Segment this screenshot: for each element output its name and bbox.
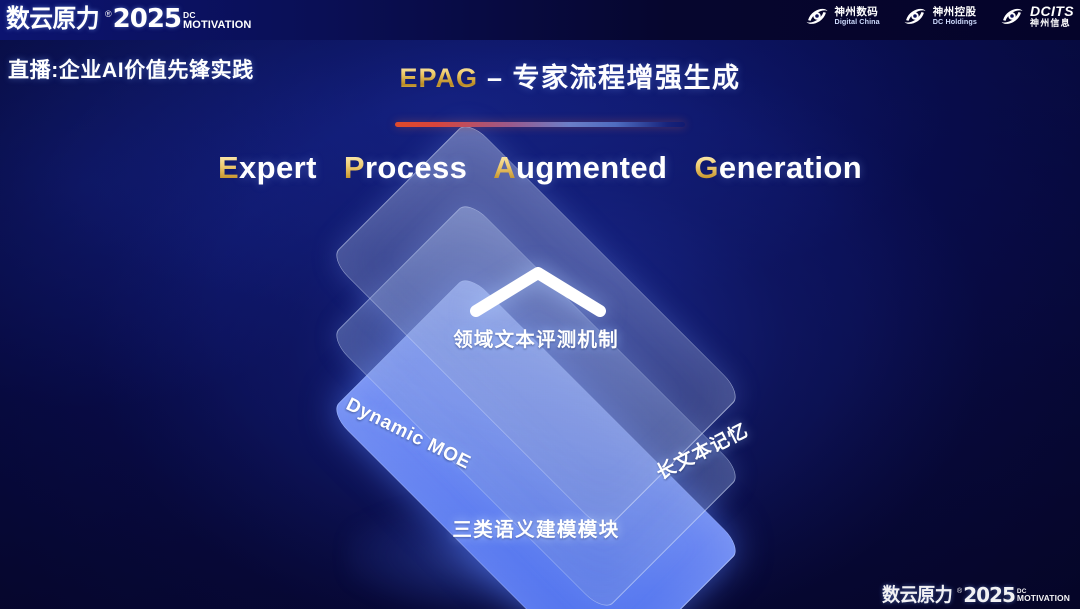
subtitle-word-generation: Generation — [694, 150, 862, 185]
partner-logo-dcits: DCITS 神州信息 — [999, 3, 1074, 29]
footer-brand-year: 2025 — [963, 585, 1015, 605]
page-subtitle: Expert Process Augmented Generation — [0, 150, 1080, 186]
brand-subtitle: DC MOTIVATION — [183, 12, 251, 30]
partner-logo-digital-china: 神州数码 Digital China — [804, 3, 880, 29]
partner-logo-dc-holdings: 神州控股 DC Holdings — [902, 3, 977, 29]
subtitle-rest: rocess — [365, 150, 467, 185]
subtitle-capital: E — [218, 150, 239, 185]
chevron-up-icon — [468, 263, 608, 319]
swirl-icon — [804, 3, 830, 29]
partner-name-cn: 神州信息 — [1030, 19, 1074, 28]
partner-text: DCITS 神州信息 — [1030, 4, 1074, 27]
title-divider — [395, 122, 685, 127]
footer-watermark-logo: 数云原力 ® 2025 DC MOTIVATION — [882, 585, 1070, 605]
swirl-icon — [902, 3, 928, 29]
footer-brand-subtitle: DC MOTIVATION — [1017, 589, 1070, 603]
title-acronym: EPAG — [399, 63, 478, 93]
partner-logos: 神州数码 Digital China 神州控股 DC Holdings — [804, 3, 1074, 29]
partner-name-en: DCITS — [1030, 4, 1074, 18]
subtitle-space — [326, 150, 335, 185]
footer-brand-name-cn: 数云原力 — [882, 586, 952, 605]
brand-logo: 数云原力 ® 2025 DC MOTIVATION — [6, 6, 251, 32]
partner-name-en: DC Holdings — [933, 18, 977, 25]
subtitle-word-expert: Expert — [218, 150, 317, 185]
partner-name-en: Digital China — [835, 18, 880, 25]
partner-text: 神州控股 DC Holdings — [933, 7, 977, 25]
subtitle-rest: ugmented — [516, 150, 667, 185]
footer-brand-subtitle-line2: MOTIVATION — [1017, 595, 1070, 603]
layered-architecture-diagram: 三类语义建模模块 Dynamic MOE 长文本记忆 领域文本评测机制 — [236, 228, 836, 588]
brand-year: 2025 — [113, 6, 181, 32]
slide-canvas: 数云原力 ® 2025 DC MOTIVATION 直播:企业AI价值先锋实践 … — [0, 0, 1080, 609]
live-broadcast-title: 直播:企业AI价值先锋实践 — [8, 54, 254, 84]
diagram-layer-bottom-label: 三类语义建模模块 — [236, 513, 836, 542]
subtitle-space — [476, 150, 485, 185]
brand-subtitle-line2: MOTIVATION — [183, 20, 251, 30]
swirl-icon — [999, 3, 1025, 29]
subtitle-rest: eneration — [719, 150, 862, 185]
subtitle-capital: P — [344, 150, 365, 185]
subtitle-word-augmented: Augmented — [493, 150, 667, 185]
subtitle-word-process: Process — [344, 150, 467, 185]
footer-brand-registered-mark: ® — [957, 588, 962, 595]
brand-registered-mark: ® — [105, 10, 112, 19]
brand-name-cn: 数云原力 — [6, 7, 99, 32]
subtitle-capital: G — [694, 150, 719, 185]
diagram-layer-top-label: 领域文本评测机制 — [236, 323, 836, 352]
title-separator: – — [478, 63, 513, 93]
title-chinese: 专家流程增强生成 — [513, 63, 741, 93]
partner-text: 神州数码 Digital China — [835, 7, 880, 25]
subtitle-space — [676, 150, 685, 185]
subtitle-rest: xpert — [239, 150, 317, 185]
subtitle-capital: A — [493, 150, 516, 185]
